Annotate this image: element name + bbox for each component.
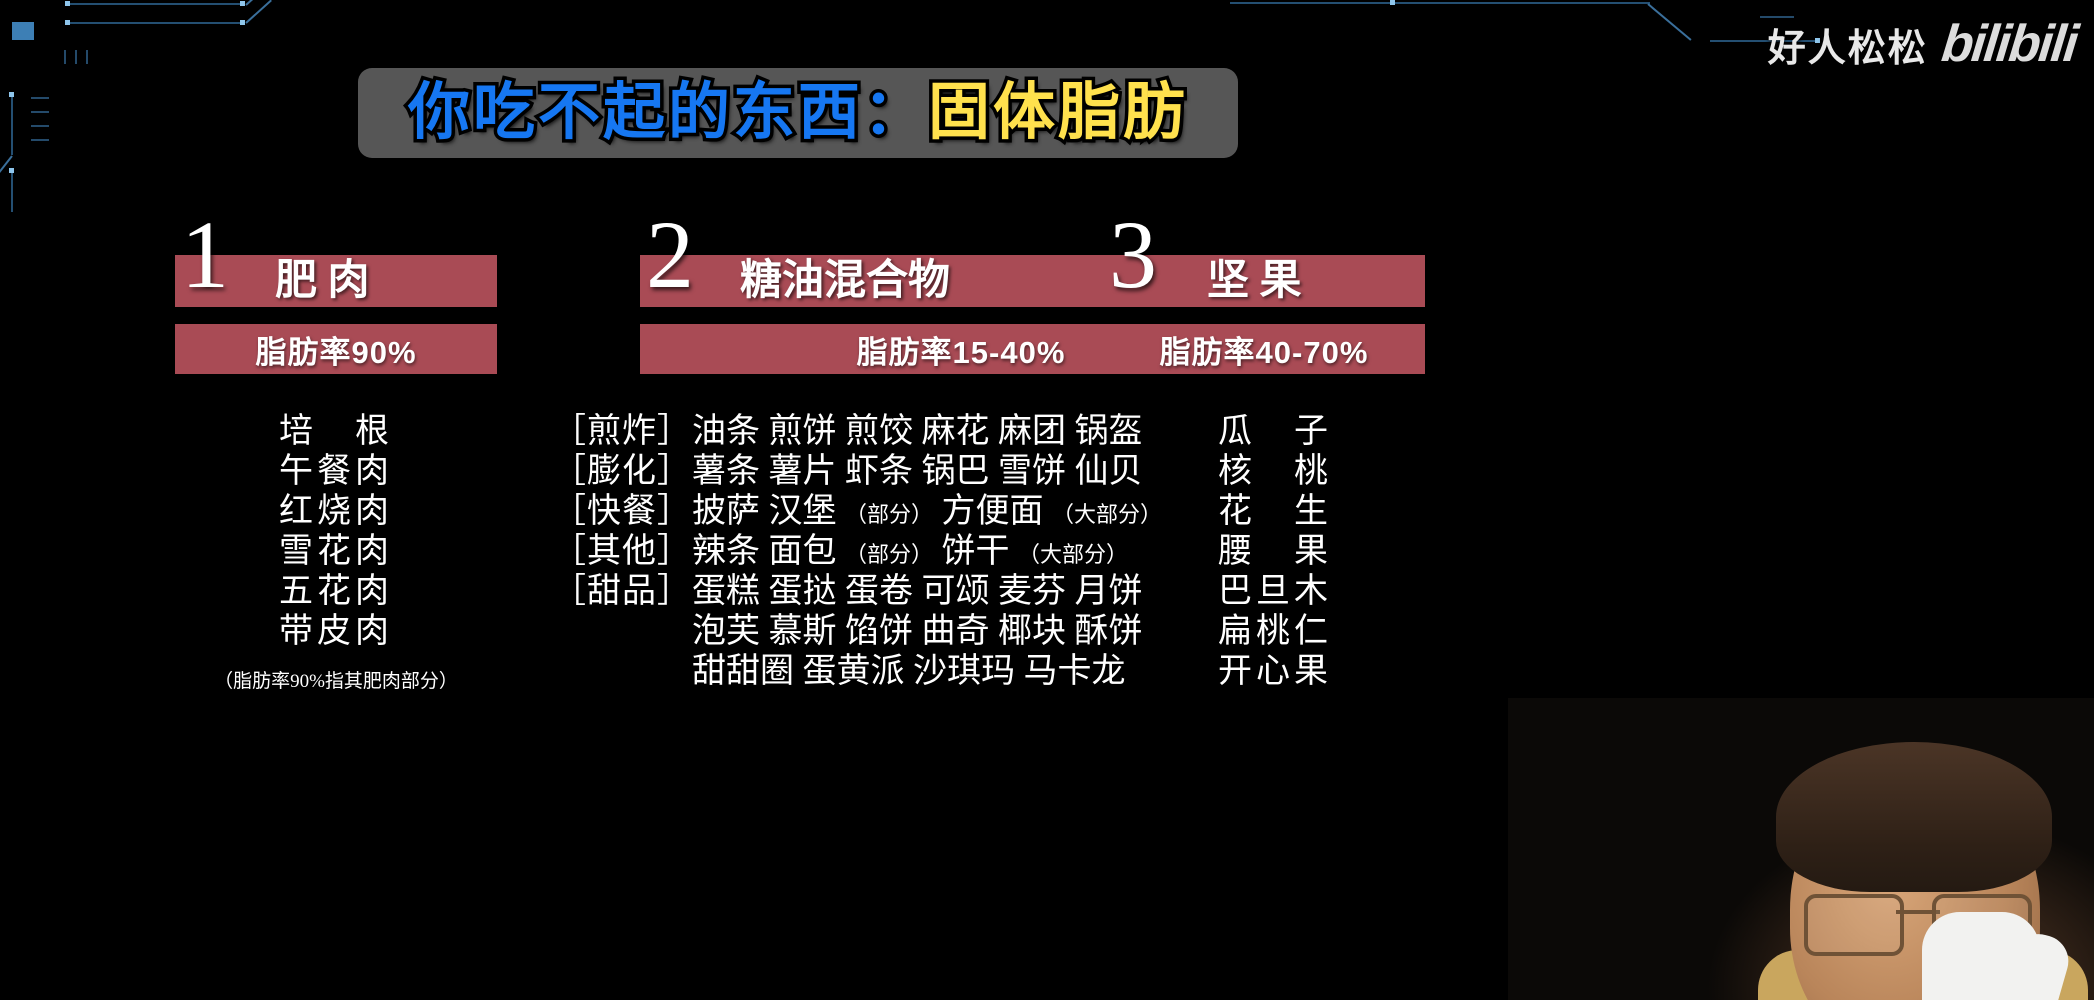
hud-dot-6	[9, 92, 14, 97]
item-tag: ［甜品］	[552, 573, 692, 610]
list-item: 扁桃仁	[1125, 612, 1425, 652]
category-name-3: 坚 果	[1207, 260, 1302, 302]
item-tag	[552, 653, 692, 690]
item-text: 蛋糕 蛋挞 蛋卷 可颂 麦芬 月饼	[692, 573, 1143, 610]
fat-rate-text-1: 脂肪率90%	[255, 327, 416, 372]
category-column-3: 3 坚 果 脂肪率40-70% 瓜 子 核 桃 花 生 腰 果 巴旦木 扁桃仁 …	[1103, 255, 1425, 692]
category-header-1: 1 肥 肉	[175, 255, 497, 307]
video-frame: 好人松松 bilibili 你吃不起的东西：固体脂肪 1 肥 肉 脂肪率90% …	[0, 0, 2094, 1000]
webcam-overlay	[1508, 698, 2094, 1000]
hud-dot-1	[65, 1, 70, 6]
item-tag: ［其他］	[552, 533, 692, 570]
hud-tick-1	[64, 50, 66, 64]
item-list-1: 培 根 午餐肉 红烧肉 雪花肉 五花肉 带皮肉 （脂肪率90%指其肥肉部分）	[175, 412, 497, 693]
item-qualifier: （部分）	[845, 502, 933, 527]
item-qualifier: （部分）	[845, 542, 933, 567]
hud-dot-3	[65, 20, 70, 25]
title-accent-text: 固体脂肪	[928, 82, 1188, 144]
hud-tick-6	[31, 125, 49, 127]
hud-square-marker	[12, 22, 34, 40]
item-text-2: 饼干	[933, 533, 1018, 570]
channel-name: 好人松松	[1768, 17, 1928, 72]
hud-tick-3	[86, 50, 88, 64]
item-text: 披萨 汉堡	[692, 493, 845, 530]
hud-line-top-1	[65, 3, 245, 5]
fat-rate-band-3: 脂肪率40-70%	[1103, 324, 1425, 374]
item-text: 辣条 面包	[692, 533, 845, 570]
list-item: 花 生	[1125, 492, 1425, 532]
list-item: 开心果	[1125, 652, 1425, 692]
list-item: 雪花肉	[175, 532, 497, 572]
glasses-lens-left	[1804, 894, 1904, 956]
list-item: 腰 果	[1125, 532, 1425, 572]
hud-dot-4	[240, 20, 245, 25]
presenter-hair	[1776, 742, 2052, 892]
item-text: 油条 煎饼 煎饺 麻花 麻团 锅盔	[692, 413, 1143, 450]
list-item: 核 桃	[1125, 452, 1425, 492]
column-footnote-1: （脂肪率90%指其肥肉部分）	[175, 666, 497, 693]
category-number-2: 2	[646, 207, 694, 303]
list-item: 瓜 子	[1125, 412, 1425, 452]
item-list-3: 瓜 子 核 桃 花 生 腰 果 巴旦木 扁桃仁 开心果	[1125, 412, 1425, 692]
title-plate: 你吃不起的东西：固体脂肪	[358, 68, 1238, 158]
watermark: 好人松松 bilibili	[1768, 14, 2076, 74]
item-tag: ［煎炸］	[552, 413, 692, 450]
fat-rate-text-2: 脂肪率15-40%	[857, 327, 1066, 372]
list-item: 午餐肉	[175, 452, 497, 492]
list-item: 五花肉	[175, 572, 497, 612]
hud-diagonal-1	[245, 0, 272, 24]
item-tag	[552, 613, 692, 650]
bilibili-logo: bilibili	[1939, 14, 2080, 74]
category-column-1: 1 肥 肉 脂肪率90% 培 根 午餐肉 红烧肉 雪花肉 五花肉 带皮肉 （脂肪…	[175, 255, 497, 693]
hud-dot-7	[1390, 0, 1395, 5]
item-tag: ［快餐］	[552, 493, 692, 530]
item-text: 甜甜圈 蛋黄派 沙琪玛 马卡龙	[692, 653, 1126, 690]
item-text: 泡芙 慕斯 馅饼 曲奇 椰块 酥饼	[692, 613, 1143, 650]
hud-tick-7	[31, 139, 49, 141]
category-name-1: 肥 肉	[275, 260, 370, 302]
list-item: 红烧肉	[175, 492, 497, 532]
item-text-2: 方便面	[933, 493, 1052, 530]
category-number-3: 3	[1109, 207, 1157, 303]
hud-tick-5	[31, 111, 49, 113]
hud-line-left-2	[11, 172, 13, 212]
hud-tick-2	[75, 50, 77, 64]
category-number-1: 1	[181, 207, 229, 303]
hud-dot-5	[9, 168, 14, 173]
list-item: 培 根	[175, 412, 497, 452]
fat-rate-band-1: 脂肪率90%	[175, 324, 497, 374]
item-tag: ［膨化］	[552, 453, 692, 490]
list-item: 巴旦木	[1125, 572, 1425, 612]
title-main-text: 你吃不起的东西：	[408, 82, 928, 144]
hud-line-left-1	[11, 95, 13, 155]
hud-line-top-2	[65, 22, 245, 24]
fat-rate-text-3: 脂肪率40-70%	[1160, 327, 1369, 372]
hud-line-top-right	[1230, 2, 1650, 4]
category-name-2: 糖油混合物	[740, 260, 950, 302]
list-item: 带皮肉	[175, 612, 497, 652]
item-text: 薯条 薯片 虾条 锅巴 雪饼 仙贝	[692, 453, 1143, 490]
hud-diagonal-4	[1647, 3, 1691, 41]
category-header-3: 3 坚 果	[1103, 255, 1425, 307]
hud-tick-4	[31, 97, 49, 99]
